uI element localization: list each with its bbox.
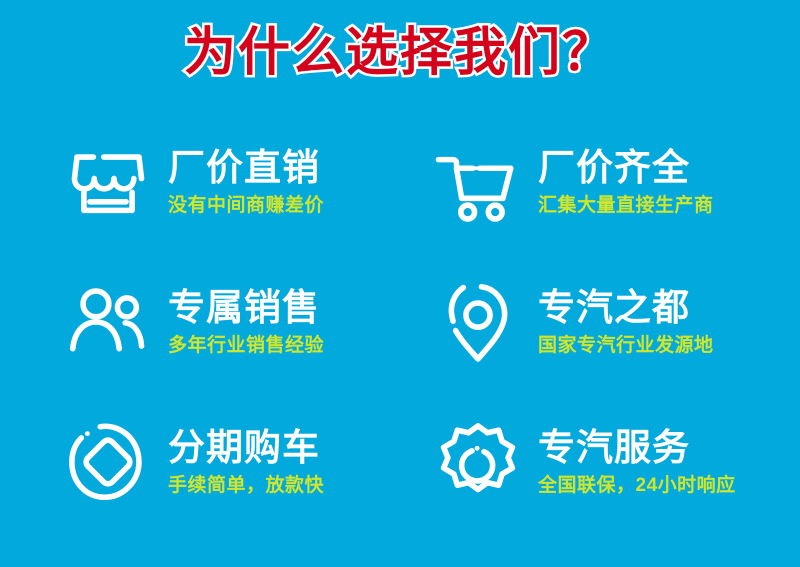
feature-grid: 厂价直销 没有中间商赚差价 厂价齐全 汇集大量直接生产商 (0, 112, 800, 532)
feature-text-group: 厂价齐全 汇集大量直接生产商 (538, 145, 714, 219)
shopping-cart-icon (432, 136, 524, 228)
feature-title: 厂价直销 (168, 147, 324, 189)
feature-text-group: 专属销售 多年行业销售经验 (168, 285, 324, 359)
feature-title: 专属销售 (168, 287, 324, 329)
page-title: 为什么选择我们？ (184, 22, 616, 84)
feature-subtitle: 多年行业销售经验 (168, 333, 324, 359)
feature-item-factory-direct-sales: 厂价直销 没有中间商赚差价 (62, 112, 432, 252)
feature-item-special-vehicle-capital: 专汽之都 国家专汽行业发源地 (432, 252, 800, 392)
feature-subtitle: 没有中间商赚差价 (168, 193, 324, 219)
storefront-icon (62, 136, 154, 228)
gear-icon (432, 416, 524, 508)
feature-item-full-factory-pricing: 厂价齐全 汇集大量直接生产商 (432, 112, 800, 252)
page-title-wrapper: 为什么选择我们？ (0, 22, 800, 84)
feature-text-group: 专汽之都 国家专汽行业发源地 (538, 285, 714, 359)
feature-title: 专汽服务 (538, 427, 736, 469)
feature-item-special-vehicle-service: 专汽服务 全国联保，24小时响应 (432, 392, 800, 532)
two-people-icon (62, 276, 154, 368)
circle-diamond-icon (62, 416, 154, 508)
feature-text-group: 分期购车 手续简单，放款快 (168, 425, 324, 499)
feature-subtitle: 全国联保，24小时响应 (538, 473, 736, 499)
feature-title: 专汽之都 (538, 287, 714, 329)
map-pin-icon (432, 276, 524, 368)
feature-subtitle: 国家专汽行业发源地 (538, 333, 714, 359)
feature-text-group: 专汽服务 全国联保，24小时响应 (538, 425, 736, 499)
feature-text-group: 厂价直销 没有中间商赚差价 (168, 145, 324, 219)
feature-subtitle: 汇集大量直接生产商 (538, 193, 714, 219)
feature-item-installment-purchase: 分期购车 手续简单，放款快 (62, 392, 432, 532)
feature-item-dedicated-sales: 专属销售 多年行业销售经验 (62, 252, 432, 392)
feature-title: 厂价齐全 (538, 147, 714, 189)
feature-title: 分期购车 (168, 427, 324, 469)
feature-subtitle: 手续简单，放款快 (168, 473, 324, 499)
promo-poster: 为什么选择我们？ 厂价直销 没有中间商赚差价 (0, 0, 800, 567)
